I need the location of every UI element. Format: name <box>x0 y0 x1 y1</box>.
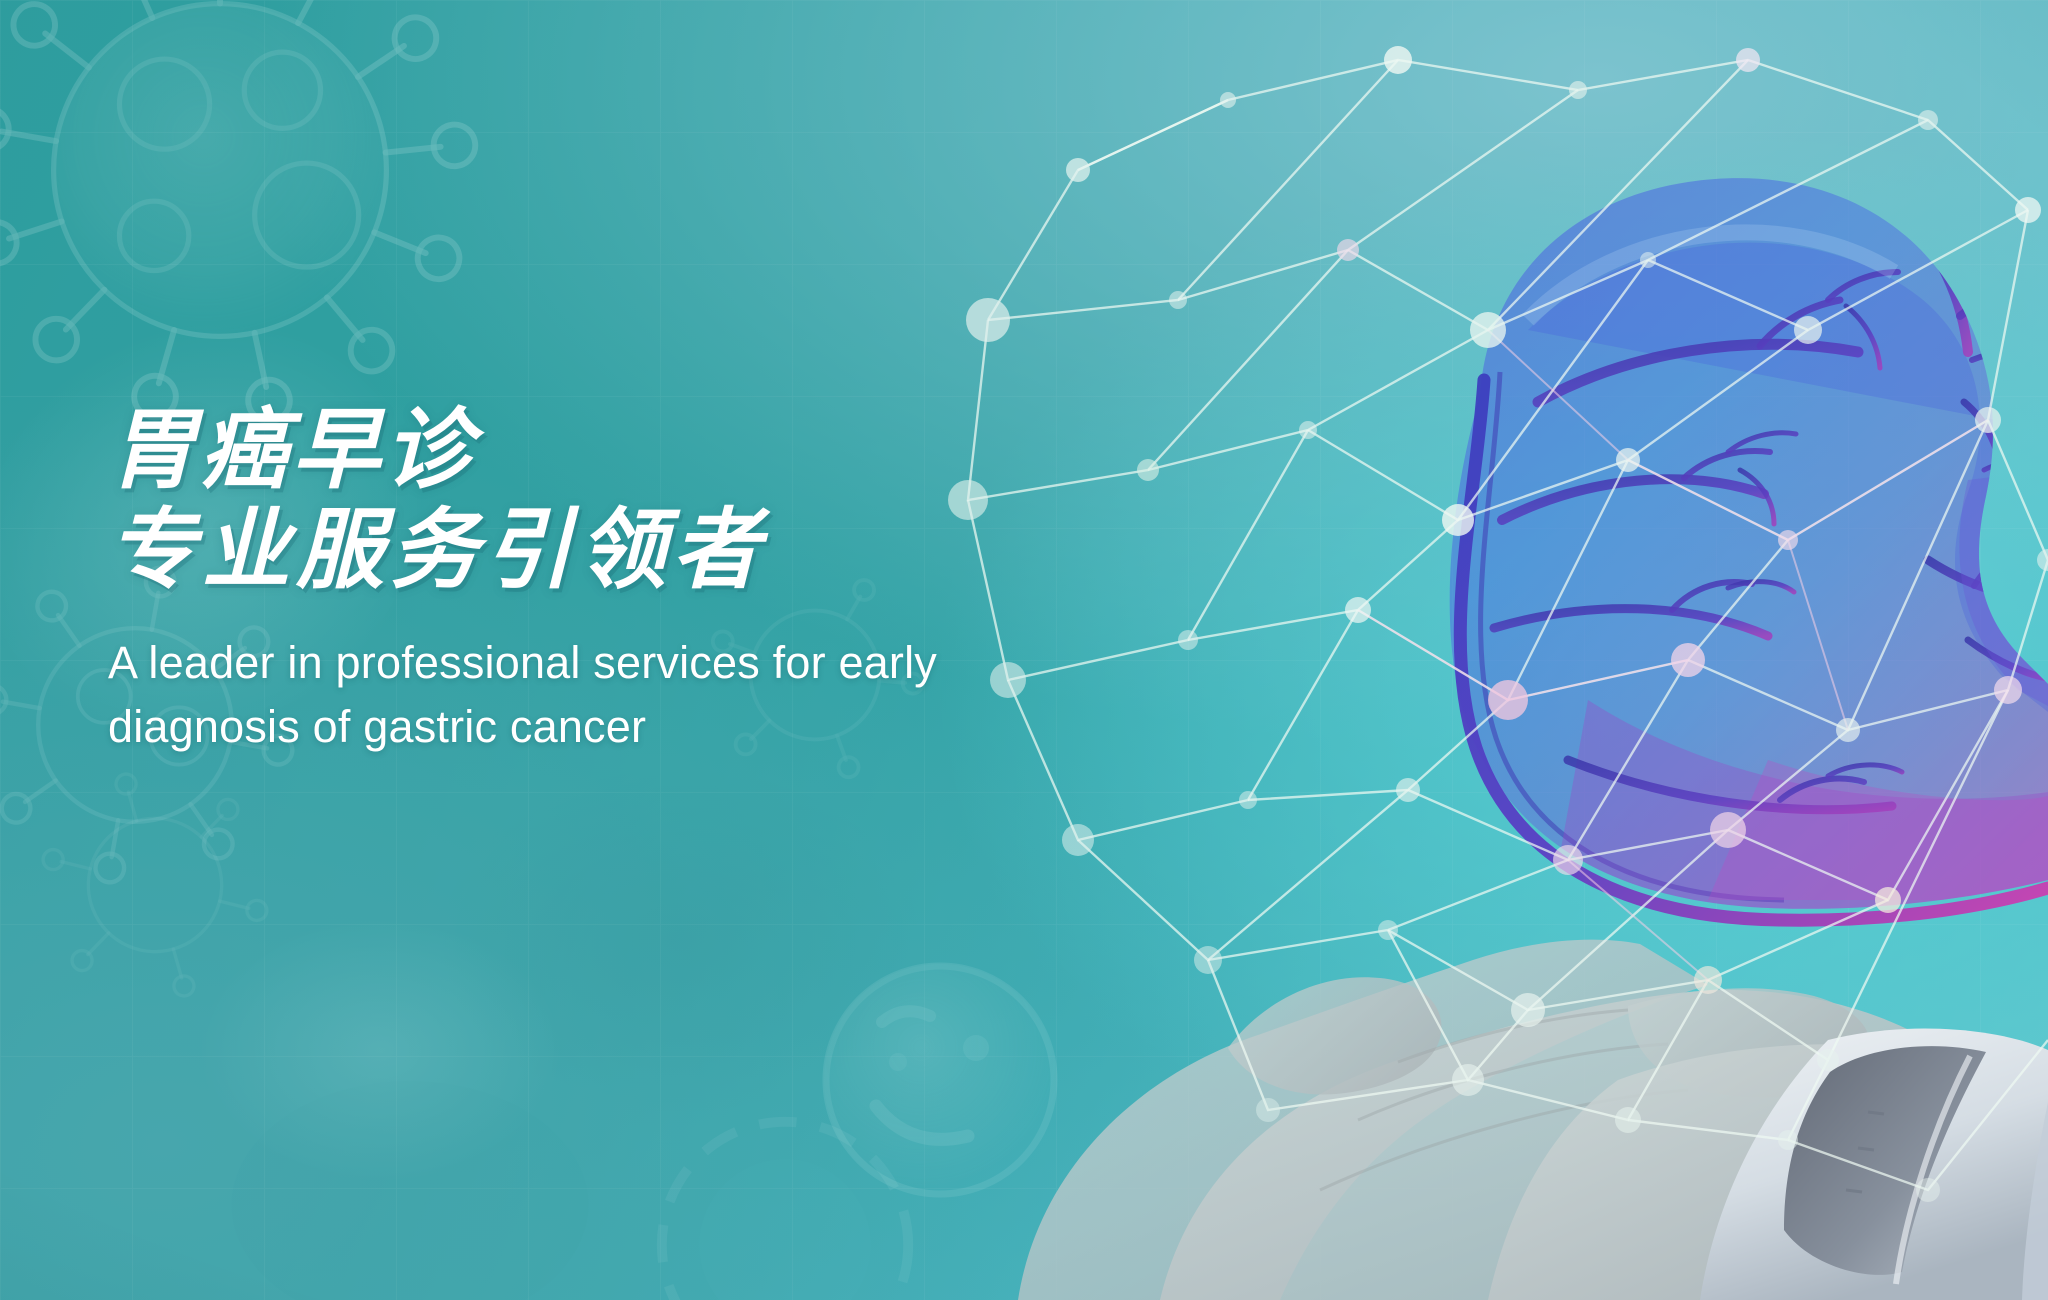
stomach-in-hand-illustration <box>928 0 2048 1300</box>
polygonal-node-network-overlay <box>928 0 2048 1300</box>
hero-banner: 胃癌早诊 专业服务引领者 A leader in professional se… <box>0 0 2048 1300</box>
